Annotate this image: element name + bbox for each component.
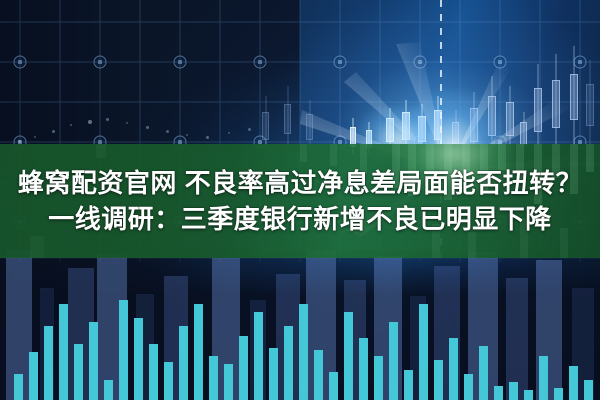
- volume-bar: [329, 372, 338, 400]
- volume-bar: [104, 380, 113, 400]
- volume-bar: [299, 304, 308, 400]
- volume-bar: [89, 322, 98, 400]
- headline-block: 蜂窝配资官网 不良率高过净息差局面能否扭转？ 一线调研：三季度银行新增不良已明显…: [0, 144, 600, 258]
- headline-line-2: 一线调研：三季度银行新增不良已明显下降: [48, 205, 552, 233]
- green-headline-band: 蜂窝配资官网 不良率高过净息差局面能否扭转？ 一线调研：三季度银行新增不良已明显…: [0, 144, 600, 258]
- volume-bar: [269, 348, 278, 400]
- volume-bar: [419, 304, 428, 400]
- volume-bar: [359, 338, 368, 400]
- volume-bar: [134, 318, 143, 400]
- volume-bar: [239, 336, 248, 400]
- volume-bar: [494, 386, 503, 400]
- volume-bar: [404, 370, 413, 400]
- volume-bar: [74, 344, 83, 400]
- volume-bar: [254, 312, 263, 400]
- volume-bar: [44, 326, 53, 400]
- headline-line-1: 蜂窝配资官网 不良率高过净息差局面能否扭转？: [18, 169, 582, 197]
- volume-bar: [509, 382, 518, 400]
- thumbnail-image: 蜂窝配资官网 不良率高过净息差局面能否扭转？ 一线调研：三季度银行新增不良已明显…: [0, 0, 600, 400]
- volume-bar: [179, 326, 188, 400]
- volume-bar: [449, 338, 458, 400]
- volume-bar: [14, 374, 23, 400]
- volume-bar: [164, 362, 173, 400]
- volume-bar: [464, 374, 473, 400]
- volume-bar: [569, 366, 578, 400]
- volume-bar: [539, 356, 548, 400]
- volume-bar: [344, 312, 353, 400]
- volume-bar: [434, 360, 443, 400]
- volume-bar: [224, 364, 233, 400]
- volume-bar: [524, 390, 533, 400]
- volume-bar: [554, 388, 563, 400]
- volume-bar: [374, 356, 383, 400]
- volume-bar: [389, 322, 398, 400]
- volume-bar: [284, 326, 293, 400]
- volume-bar: [149, 344, 158, 400]
- volume-bar: [194, 304, 203, 400]
- volume-bar: [119, 300, 128, 400]
- volume-bar: [584, 380, 593, 400]
- volume-bar: [479, 346, 488, 400]
- volume-bar: [314, 350, 323, 400]
- volume-bar: [29, 352, 38, 400]
- volume-bar: [209, 356, 218, 400]
- volume-bar: [59, 304, 68, 400]
